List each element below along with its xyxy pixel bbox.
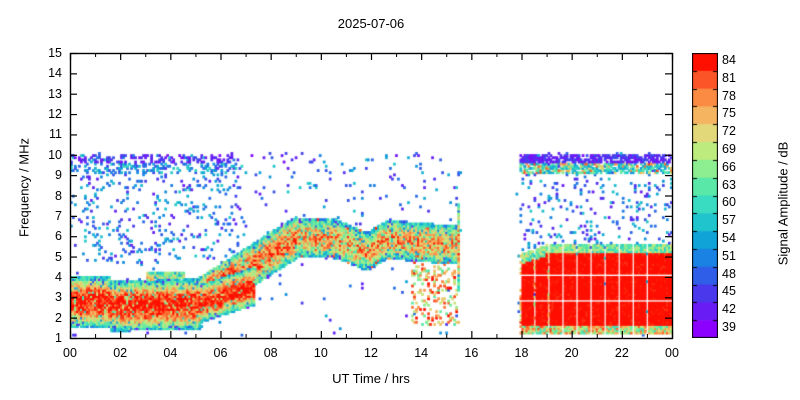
x-tick-label: 10 (299, 347, 343, 360)
y-tick-label: 8 (24, 190, 62, 203)
x-tick-label: 06 (199, 347, 243, 360)
colorbar-tick-label: 84 (722, 54, 752, 67)
y-tick-label: 5 (24, 251, 62, 264)
y-tick-label: 1 (24, 332, 62, 345)
x-tick-label: 18 (500, 347, 544, 360)
y-tick-label: 10 (24, 149, 62, 162)
colorbar-tick-label: 75 (722, 107, 752, 120)
y-tick-label: 15 (24, 47, 62, 60)
colorbar-gradient (692, 53, 718, 338)
y-tick-label: 2 (24, 312, 62, 325)
x-tick-label: 22 (600, 347, 644, 360)
colorbar-tick-label: 57 (722, 214, 752, 227)
colorbar-label: Signal Amplitude / dB (776, 119, 791, 289)
y-tick-label: 13 (24, 88, 62, 101)
colorbar-tick-label: 51 (722, 250, 752, 263)
x-axis-label: UT Time / hrs (0, 371, 742, 386)
colorbar-tick-label: 69 (722, 143, 752, 156)
colorbar-tick-label: 54 (722, 232, 752, 245)
y-tick-label: 3 (24, 291, 62, 304)
y-tick-label: 9 (24, 169, 62, 182)
page-title: 2025-07-06 (0, 16, 742, 31)
y-tick-label: 14 (24, 67, 62, 80)
colorbar-tick-label: 39 (722, 321, 752, 334)
y-tick-label: 11 (24, 128, 62, 141)
colorbar-tick-label: 78 (722, 90, 752, 103)
colorbar-tick-label: 63 (722, 179, 752, 192)
colorbar-tick-label: 45 (722, 285, 752, 298)
x-tick-label: 08 (249, 347, 293, 360)
x-tick-label: 20 (550, 347, 594, 360)
colorbar-tick-label: 48 (722, 268, 752, 281)
spectrogram-figure: 2025-07-06 Frequency / MHz UT Time / hrs… (0, 0, 800, 400)
colorbar-tick-label: 81 (722, 72, 752, 85)
x-tick-label: 14 (399, 347, 443, 360)
x-tick-label: 00 (48, 347, 92, 360)
y-tick-label: 6 (24, 230, 62, 243)
x-tick-label: 04 (148, 347, 192, 360)
spectrogram-plot[interactable] (70, 53, 672, 338)
x-tick-label: 12 (349, 347, 393, 360)
y-tick-label: 7 (24, 210, 62, 223)
colorbar-tick-label: 42 (722, 303, 752, 316)
x-tick-label: 02 (98, 347, 142, 360)
colorbar-tick-label: 72 (722, 125, 752, 138)
colorbar-tick-label: 66 (722, 161, 752, 174)
x-tick-label: 16 (449, 347, 493, 360)
colorbar-tick-label: 60 (722, 196, 752, 209)
y-tick-label: 4 (24, 271, 62, 284)
x-tick-label: 00 (650, 347, 694, 360)
y-tick-label: 12 (24, 108, 62, 121)
